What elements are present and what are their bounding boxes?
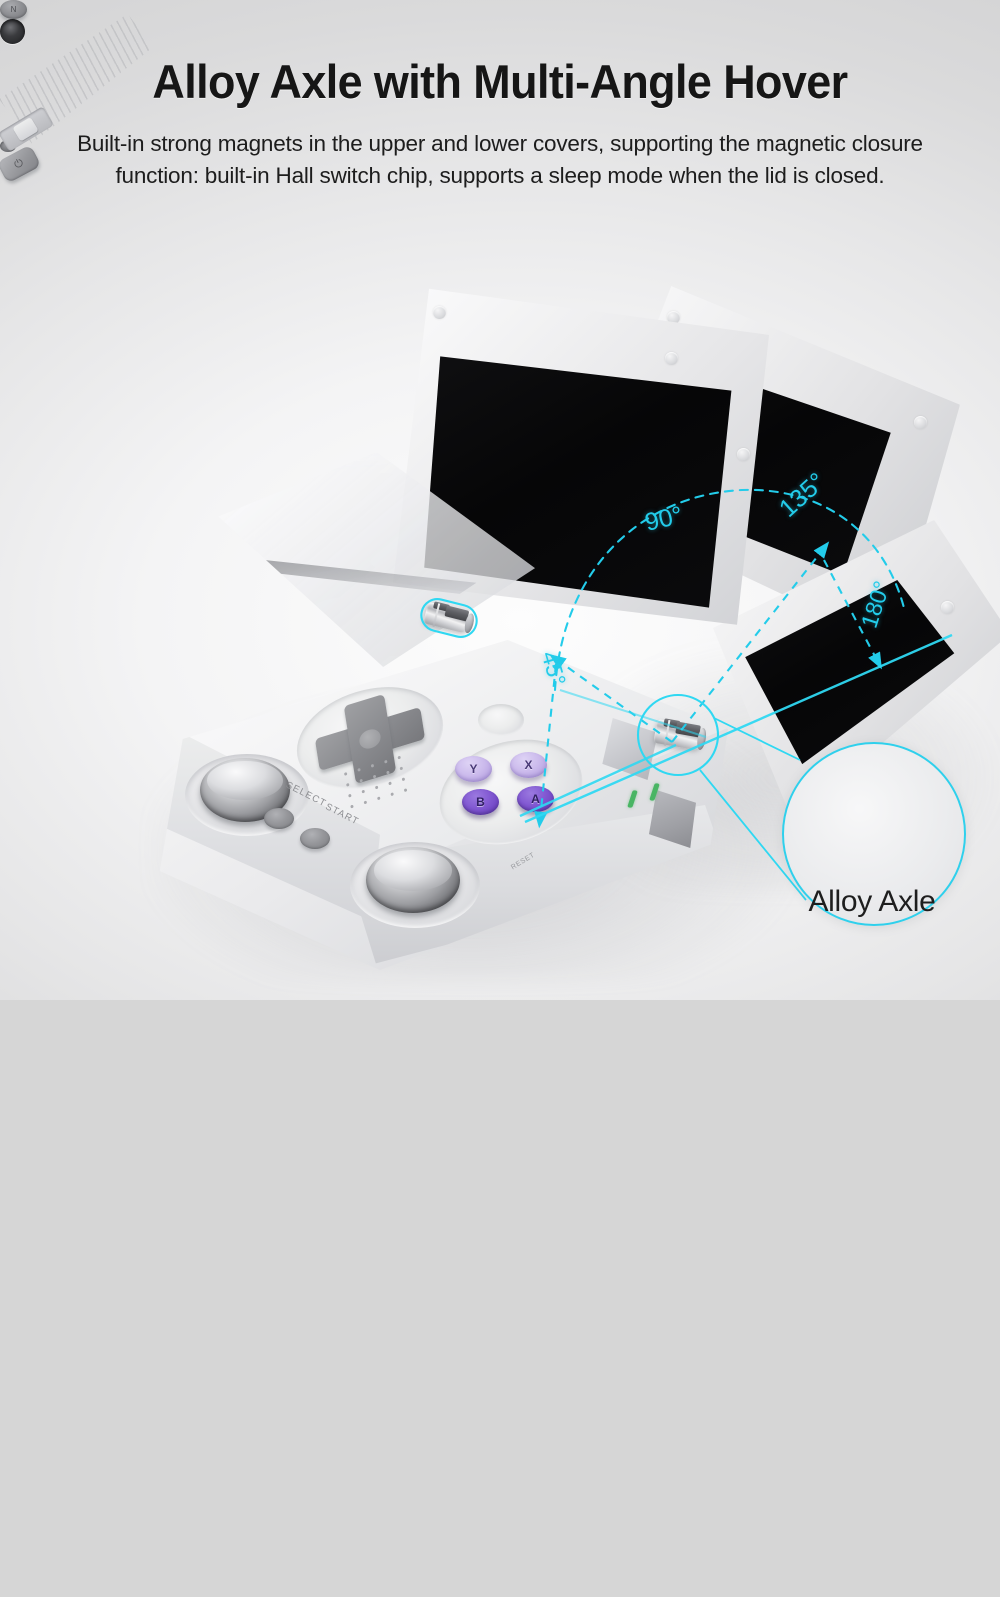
screw-dot-icon — [665, 352, 678, 365]
stick-cap — [374, 850, 453, 891]
screw-dot-icon — [914, 416, 927, 429]
product-infographic: Alloy Axle with Multi-Angle Hover Built-… — [0, 0, 1000, 1000]
function-button[interactable]: N — [0, 0, 27, 19]
headphone-jack — [0, 19, 25, 44]
screw-dot-icon — [941, 601, 954, 614]
right-analog-stick[interactable] — [366, 847, 460, 913]
stick-cap — [207, 761, 283, 801]
face-button-x[interactable]: X — [510, 752, 547, 778]
alloy-axle-caption: Alloy Axle — [762, 885, 982, 919]
face-button-b[interactable]: B — [462, 789, 499, 815]
select-button[interactable] — [264, 808, 294, 829]
face-button-y[interactable]: Y — [455, 756, 492, 782]
screw-dot-icon — [433, 306, 446, 319]
face-button-a[interactable]: A — [517, 786, 554, 812]
function-button-recess — [478, 704, 524, 736]
start-button[interactable] — [300, 828, 330, 849]
